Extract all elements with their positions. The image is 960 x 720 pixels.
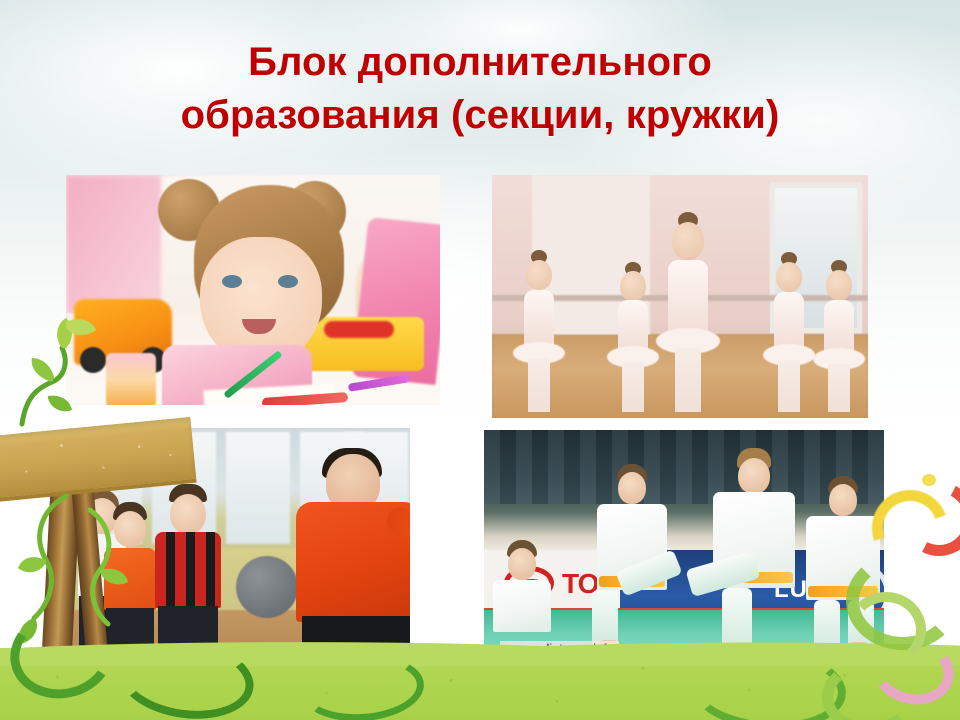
karateka-head bbox=[618, 472, 646, 504]
photo-ballet-class-content bbox=[492, 175, 868, 418]
ballerina bbox=[810, 260, 868, 412]
slide-canvas: Блок дополнительного образования (секции… bbox=[0, 0, 960, 720]
ballerina-head bbox=[620, 271, 646, 301]
karateka-head bbox=[738, 458, 770, 494]
ballerina-legs bbox=[622, 362, 644, 412]
swirl-dot-yellow bbox=[922, 474, 936, 486]
ballerina-head bbox=[826, 270, 852, 300]
ballerina-head bbox=[526, 260, 552, 290]
karate-gi bbox=[493, 580, 551, 632]
yellow-belt bbox=[808, 586, 878, 597]
girl-eye bbox=[222, 275, 242, 288]
ballerina-head bbox=[672, 222, 704, 260]
red-berries-toy bbox=[324, 321, 394, 338]
ballerina bbox=[510, 250, 568, 412]
karateka-kicking bbox=[584, 464, 680, 650]
gym-window bbox=[226, 432, 290, 544]
ballerina-legs bbox=[675, 348, 701, 412]
ballerina-legs bbox=[778, 360, 800, 412]
karateka-head bbox=[508, 548, 536, 580]
karateka-seated bbox=[490, 540, 554, 632]
karateka-head bbox=[829, 484, 857, 516]
ballerina-front bbox=[652, 212, 724, 412]
swirl-red bbox=[892, 472, 960, 565]
page-title: Блок дополнительного образования (секции… bbox=[0, 36, 960, 142]
photo-ballet-class[interactable] bbox=[492, 175, 868, 418]
ballerina-legs bbox=[828, 364, 850, 412]
karateka-standing bbox=[804, 476, 882, 652]
karateka-front-kicking bbox=[696, 448, 812, 656]
ballerina-legs bbox=[528, 358, 550, 412]
basketball bbox=[236, 556, 298, 618]
ballerina-head bbox=[776, 262, 802, 292]
girl-eye bbox=[278, 275, 298, 288]
